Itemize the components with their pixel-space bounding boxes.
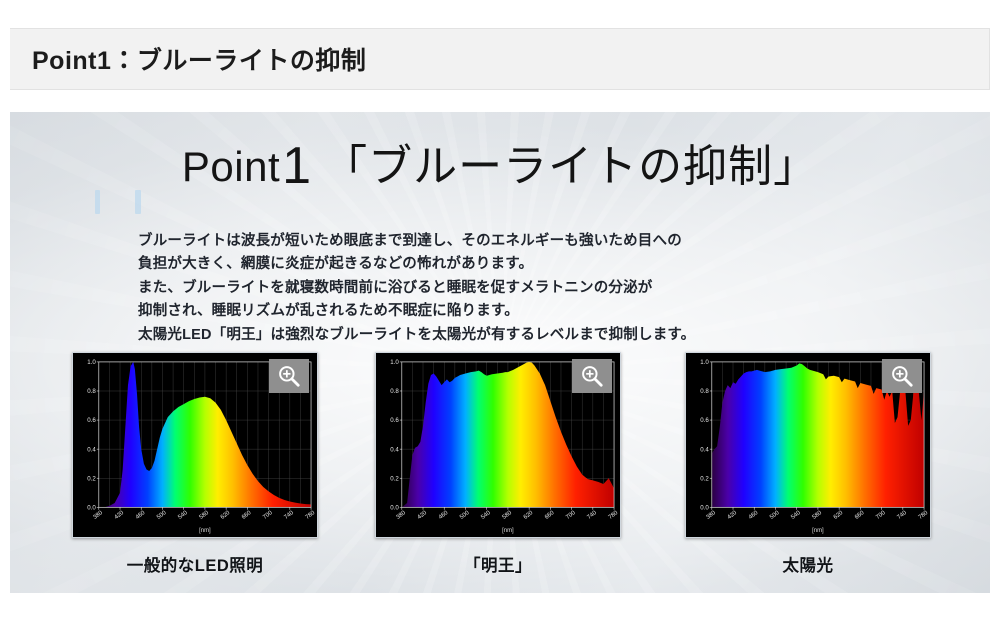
body-line: また、ブルーライトを就寝数時間前に浴びると睡眠を促すメラトニンの分泌が bbox=[138, 277, 878, 300]
body-line: ブルーライトは波長が短いため眼底まで到達し、そのエネルギーも強いため目への bbox=[138, 230, 878, 253]
svg-text:780: 780 bbox=[608, 510, 620, 521]
spectrum-chart-sunlight[interactable]: 0.00.20.40.60.81.03804204605005405806206… bbox=[685, 352, 931, 538]
svg-text:620: 620 bbox=[833, 510, 845, 521]
svg-text:580: 580 bbox=[502, 510, 514, 521]
svg-text:660: 660 bbox=[854, 510, 866, 521]
svg-text:500: 500 bbox=[459, 510, 471, 521]
spectrum-chart-myoo[interactable]: 0.00.20.40.60.81.03804204605005405806206… bbox=[375, 352, 621, 538]
svg-text:460: 460 bbox=[748, 510, 760, 521]
svg-text:1.0: 1.0 bbox=[700, 359, 709, 366]
svg-text:0.6: 0.6 bbox=[700, 417, 709, 424]
slide-title: Point1「ブルーライトの抑制」 bbox=[10, 140, 990, 192]
slide-image: Point1「ブルーライトの抑制」 ブルーライトは波長が短いため眼底まで到達し、… bbox=[10, 112, 990, 593]
magnifier-glyph bbox=[889, 363, 915, 389]
svg-text:620: 620 bbox=[220, 510, 232, 521]
svg-text:700: 700 bbox=[262, 510, 274, 521]
svg-text:1.0: 1.0 bbox=[390, 359, 399, 366]
svg-text:0.0: 0.0 bbox=[700, 505, 709, 512]
svg-text:700: 700 bbox=[565, 510, 577, 521]
chart-caption: 一般的なLED照明 bbox=[72, 552, 318, 576]
svg-text:0.0: 0.0 bbox=[390, 505, 399, 512]
body-line: 負担が大きく、網膜に炎症が起きるなどの怖れがあります。 bbox=[138, 253, 878, 276]
svg-text:0.4: 0.4 bbox=[390, 446, 399, 453]
svg-text:0.4: 0.4 bbox=[700, 446, 709, 453]
slide-title-number: 1 bbox=[282, 137, 311, 195]
svg-text:780: 780 bbox=[305, 510, 317, 521]
svg-text:0.0: 0.0 bbox=[87, 505, 96, 512]
svg-text:700: 700 bbox=[875, 510, 887, 521]
decorative-blue-mark bbox=[135, 190, 141, 214]
svg-text:540: 540 bbox=[177, 510, 189, 521]
svg-text:580: 580 bbox=[199, 510, 211, 521]
svg-text:0.6: 0.6 bbox=[390, 417, 399, 424]
slide-body-text: ブルーライトは波長が短いため眼底まで到達し、そのエネルギーも強いため目への 負担… bbox=[138, 230, 878, 347]
svg-text:740: 740 bbox=[896, 510, 908, 521]
svg-text:500: 500 bbox=[156, 510, 168, 521]
svg-text:580: 580 bbox=[812, 510, 824, 521]
svg-text:0.4: 0.4 bbox=[87, 446, 96, 453]
chart-caption: 太陽光 bbox=[685, 552, 931, 576]
svg-text:0.2: 0.2 bbox=[87, 475, 96, 482]
svg-text:0.8: 0.8 bbox=[700, 388, 709, 395]
magnifier-glyph bbox=[579, 363, 605, 389]
page-root: Point1：ブルーライトの抑制 Point1「ブルーライトの抑制」 ブルーライ… bbox=[0, 0, 1000, 621]
svg-text:0.6: 0.6 bbox=[87, 417, 96, 424]
zoom-in-icon[interactable] bbox=[572, 359, 612, 393]
svg-text:740: 740 bbox=[283, 510, 295, 521]
zoom-in-icon[interactable] bbox=[269, 359, 309, 393]
chart-cell-myoo: 0.00.20.40.60.81.03804204605005405806206… bbox=[375, 352, 621, 576]
svg-text:0.2: 0.2 bbox=[700, 475, 709, 482]
svg-text:620: 620 bbox=[523, 510, 535, 521]
slide-title-rest: 「ブルーライトの抑制」 bbox=[323, 142, 818, 191]
slide-title-prefix: Point bbox=[182, 143, 280, 190]
svg-text:[nm]: [nm] bbox=[502, 528, 514, 534]
spectrum-chart-row: 0.00.20.40.60.81.03804204605005405806206… bbox=[10, 352, 990, 582]
svg-text:420: 420 bbox=[727, 510, 739, 521]
spectrum-chart-led[interactable]: 0.00.20.40.60.81.03804204605005405806206… bbox=[72, 352, 318, 538]
svg-text:0.8: 0.8 bbox=[390, 388, 399, 395]
page-title: Point1：ブルーライトの抑制 bbox=[32, 41, 366, 77]
svg-text:0.2: 0.2 bbox=[390, 475, 399, 482]
section-header: Point1：ブルーライトの抑制 bbox=[10, 28, 990, 90]
svg-text:460: 460 bbox=[438, 510, 450, 521]
chart-cell-sunlight: 0.00.20.40.60.81.03804204605005405806206… bbox=[685, 352, 931, 576]
svg-text:540: 540 bbox=[480, 510, 492, 521]
svg-text:[nm]: [nm] bbox=[199, 528, 211, 534]
decorative-blue-mark bbox=[95, 190, 100, 214]
svg-text:0.8: 0.8 bbox=[87, 388, 96, 395]
body-line: 太陽光LED「明王」は強烈なブルーライトを太陽光が有するレベルまで抑制します。 bbox=[138, 324, 878, 347]
svg-text:500: 500 bbox=[769, 510, 781, 521]
svg-text:420: 420 bbox=[114, 510, 126, 521]
body-line: 抑制され、睡眠リズムが乱されるため不眠症に陥ります。 bbox=[138, 300, 878, 323]
zoom-in-icon[interactable] bbox=[882, 359, 922, 393]
svg-text:460: 460 bbox=[135, 510, 147, 521]
svg-text:780: 780 bbox=[918, 510, 930, 521]
svg-text:[nm]: [nm] bbox=[812, 528, 824, 534]
svg-text:660: 660 bbox=[241, 510, 253, 521]
svg-text:420: 420 bbox=[417, 510, 429, 521]
svg-text:660: 660 bbox=[544, 510, 556, 521]
svg-text:540: 540 bbox=[790, 510, 802, 521]
svg-text:1.0: 1.0 bbox=[87, 359, 96, 366]
chart-caption: 「明王」 bbox=[375, 552, 621, 576]
svg-text:740: 740 bbox=[586, 510, 598, 521]
chart-cell-led: 0.00.20.40.60.81.03804204605005405806206… bbox=[72, 352, 318, 576]
magnifier-glyph bbox=[276, 363, 302, 389]
